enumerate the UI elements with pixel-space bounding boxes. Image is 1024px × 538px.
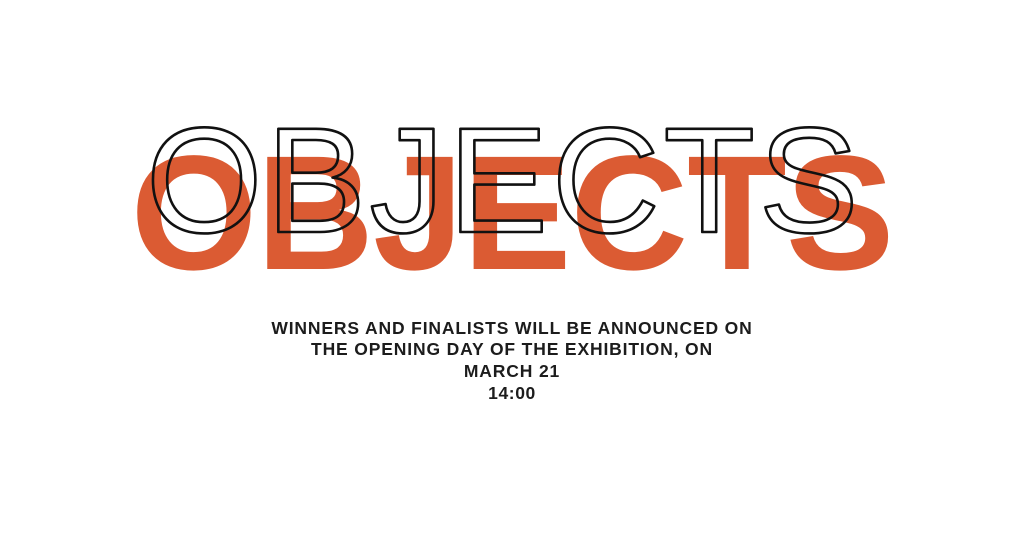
announcement-date: MARCH 21 — [0, 361, 1024, 382]
announcement-line-1: WINNERS AND FINALISTS WILL BE ANNOUNCED … — [0, 318, 1024, 339]
poster-canvas: OBJECTS OBJECTS WINNERS AND FINALISTS WI… — [0, 0, 1024, 538]
title-outline-layer: OBJECTS — [146, 104, 862, 264]
announcement-time: 14:00 — [0, 383, 1024, 404]
title-wordmark-svg: OBJECTS OBJECTS — [0, 104, 1024, 284]
announcement-line-2: THE OPENING DAY OF THE EXHIBITION, ON — [0, 339, 1024, 360]
title-wordmark: OBJECTS OBJECTS — [0, 104, 1024, 284]
announcement-block: WINNERS AND FINALISTS WILL BE ANNOUNCED … — [0, 318, 1024, 404]
